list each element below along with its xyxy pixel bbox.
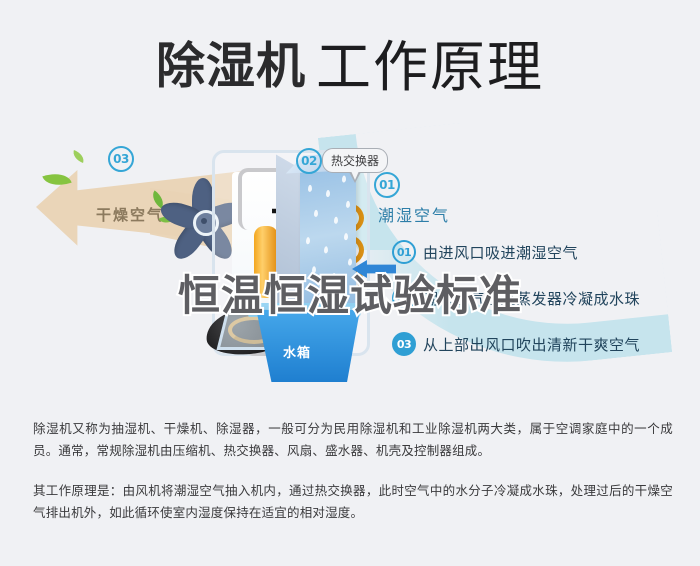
compressor-cylinder bbox=[254, 226, 278, 298]
heat-exchanger-side bbox=[276, 154, 302, 321]
list-item: 02 潮湿空气经过蒸发器冷凝成水珠 bbox=[392, 286, 692, 310]
heat-exchanger-panel bbox=[300, 164, 356, 323]
water-tank-label: 水箱 bbox=[283, 342, 311, 361]
step-text: 由进风口吸进潮湿空气 bbox=[423, 242, 578, 263]
step-text: 从上部出风口吹出清新干爽空气 bbox=[423, 334, 640, 355]
paragraph-one: 除湿机又称为抽湿机、干燥机、除湿器，一般可分为民用除湿机和工业除湿机两大类，属于… bbox=[33, 418, 673, 462]
heat-exchanger-badge: 02 bbox=[296, 148, 322, 174]
infographic-canvas: 除湿机工作原理 干燥空气 03 bbox=[0, 0, 700, 566]
leaf-icon bbox=[71, 150, 86, 163]
step-text: 潮湿空气经过蒸发器冷凝成水珠 bbox=[423, 288, 640, 309]
list-item: 01 由进风口吸进潮湿空气 bbox=[392, 240, 692, 264]
description-text: 除湿机又称为抽湿机、干燥机、除湿器，一般可分为民用除湿机和工业除湿机两大类，属于… bbox=[33, 418, 673, 542]
page-title: 除湿机工作原理 bbox=[0, 22, 700, 102]
dry-air-label: 干燥空气 bbox=[96, 204, 164, 225]
paragraph-two: 其工作原理是：由风机将潮湿空气抽入机内，通过热交换器，此时空气中的水分子冷凝成水… bbox=[33, 480, 673, 524]
humid-air-label: 潮湿空气 bbox=[378, 202, 450, 226]
title-secondary: 工作原理 bbox=[316, 35, 544, 99]
step-badge: 01 bbox=[392, 240, 416, 264]
step-badge: 02 bbox=[392, 286, 416, 310]
process-step-list: 01 由进风口吸进潮湿空气 02 潮湿空气经过蒸发器冷凝成水珠 03 从上部出风… bbox=[392, 240, 692, 378]
humid-air-badge: 01 bbox=[374, 172, 400, 198]
heat-exchanger-callout: 热交换器 bbox=[322, 148, 388, 173]
step-badge: 03 bbox=[392, 332, 416, 356]
dry-air-badge: 03 bbox=[108, 146, 134, 172]
list-item: 03 从上部出风口吹出清新干爽空气 bbox=[392, 332, 692, 356]
title-primary: 除湿机 bbox=[156, 38, 306, 95]
